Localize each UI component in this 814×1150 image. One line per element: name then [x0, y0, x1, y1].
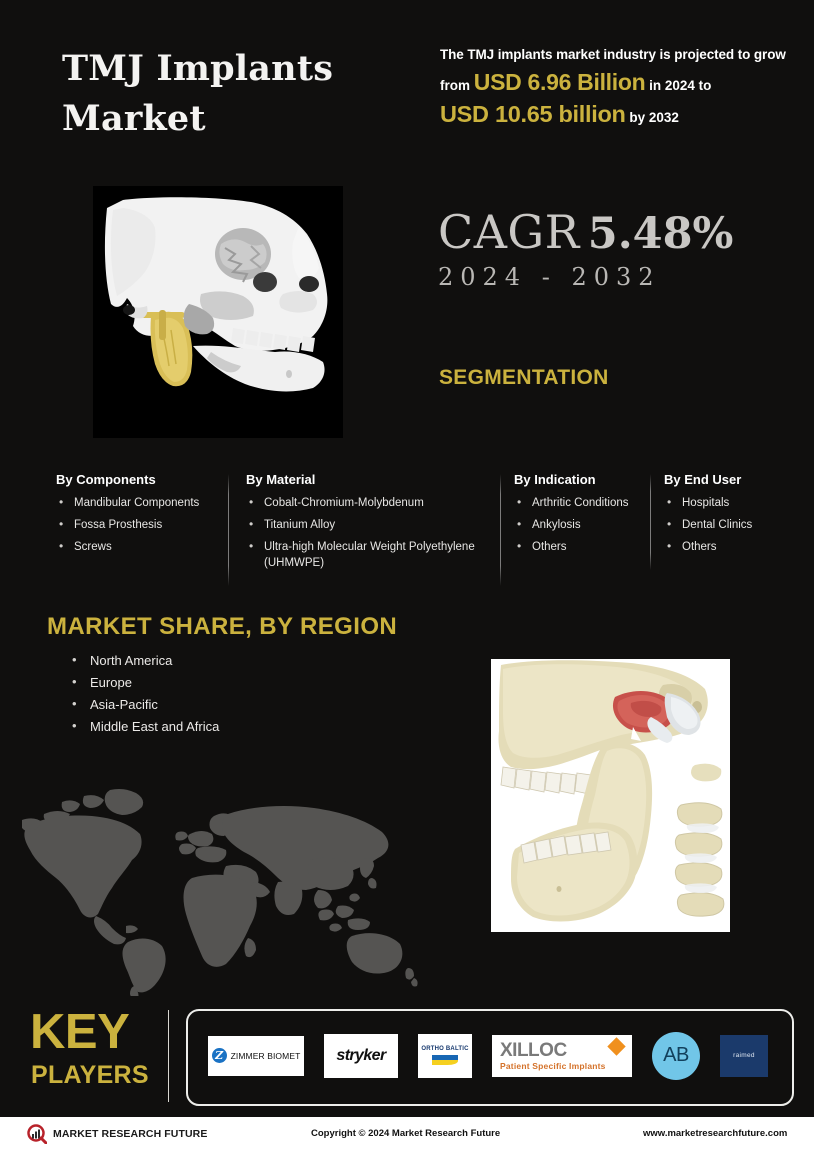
infographic-page: TMJ Implants Market The TMJ implants mar… [0, 0, 814, 1150]
skull-ct-illustration [93, 186, 343, 438]
intro-block: The TMJ implants market industry is proj… [440, 46, 806, 127]
market-share-region-list: North America Europe Asia-Pacific Middle… [68, 653, 219, 741]
list-item: Dental Clinics [664, 518, 804, 533]
footer-brand-logo: MARKET RESEARCH FUTURE [27, 1124, 207, 1144]
footer-brand-text: MARKET RESEARCH FUTURE [53, 1128, 207, 1140]
list-item: Ankylosis [514, 518, 654, 533]
list-item: Asia-Pacific [68, 697, 219, 712]
segment-title: By End User [664, 472, 804, 487]
list-item: Hospitals [664, 496, 804, 511]
logo-text: XILLOC [500, 1041, 567, 1060]
segment-title: By Indication [514, 472, 654, 487]
column-divider [650, 474, 651, 570]
footer-copyright: Copyright © 2024 Market Research Future [311, 1128, 500, 1139]
logo-text: ZIMMER BIOMET [231, 1051, 301, 1061]
world-map-silhouette [22, 786, 442, 996]
list-item: Others [514, 540, 654, 555]
intro-line-1: The TMJ implants market industry is proj… [440, 46, 806, 64]
intro-in-2024-label: in 2024 to [649, 78, 711, 93]
logo-stryker[interactable]: stryker [324, 1034, 398, 1078]
key-players-label-players: PLAYERS [31, 1063, 149, 1088]
list-item: Titanium Alloy [246, 518, 496, 533]
segment-list: Cobalt-Chromium-Molybdenum Titanium Allo… [246, 496, 496, 571]
cagr-block: CAGR5.48% [438, 205, 733, 259]
list-item: Others [664, 540, 804, 555]
segment-column-indication: By Indication Arthritic Conditions Ankyl… [514, 472, 654, 563]
segment-column-material: By Material Cobalt-Chromium-Molybdenum T… [246, 472, 496, 578]
segment-list: Hospitals Dental Clinics Others [664, 496, 804, 556]
logo-raimed[interactable]: raimed [720, 1035, 768, 1077]
column-divider [228, 474, 229, 586]
intro-line-3: USD 10.65 billion by 2032 [440, 103, 806, 127]
list-item: Mandibular Components [56, 496, 216, 511]
logo-text: raimed [733, 1052, 755, 1059]
skull-implant-image [93, 186, 343, 438]
world-map [22, 786, 442, 996]
logo-text: AB [663, 1044, 689, 1067]
footer-url[interactable]: www.marketresearchfuture.com [643, 1128, 787, 1139]
intro-by-2032-label: by 2032 [629, 110, 679, 125]
key-players-divider [168, 1010, 169, 1102]
segmentation-heading: SEGMENTATION [439, 366, 609, 390]
cagr-label: CAGR [438, 205, 580, 259]
segment-title: By Material [246, 472, 496, 487]
cagr-years: 2024 - 2032 [438, 263, 661, 291]
segmentation-columns: By Components Mandibular Components Foss… [0, 472, 814, 597]
cagr-value: 5.48% [588, 209, 734, 259]
footer: MARKET RESEARCH FUTURE Copyright © 2024 … [0, 1117, 814, 1150]
market-value-2024: USD 6.96 Billion [474, 69, 646, 95]
intro-from-label: from [440, 78, 470, 93]
logo-text: stryker [336, 1047, 385, 1065]
zimmer-biomet-mark-icon: Z [212, 1048, 227, 1063]
list-item: Arthritic Conditions [514, 496, 654, 511]
market-share-heading: MARKET SHARE, BY REGION [47, 613, 397, 641]
list-item: Cobalt-Chromium-Molybdenum [246, 496, 496, 511]
jaw-anatomy-image [491, 659, 730, 932]
market-value-2032: USD 10.65 billion [440, 101, 626, 127]
segment-list: Mandibular Components Fossa Prosthesis S… [56, 496, 216, 556]
key-players-label-key: KEY [30, 1008, 129, 1057]
logo-text: ORTHO BALTIC [421, 1046, 468, 1052]
list-item: Screws [56, 540, 216, 555]
logo-xilloc[interactable]: XILLOC Patient Specific Implants [492, 1035, 632, 1077]
list-item: Europe [68, 675, 219, 690]
key-players-logo-strip: Z ZIMMER BIOMET stryker ORTHO BALTIC XIL… [186, 1009, 790, 1102]
logo-ab-dental[interactable]: AB [652, 1032, 700, 1080]
list-item: Ultra-high Molecular Weight Polyethylene… [246, 540, 496, 570]
list-item: Middle East and Africa [68, 719, 219, 734]
ukraine-flag-icon [432, 1055, 458, 1065]
segment-title: By Components [56, 472, 216, 487]
segment-column-end-user: By End User Hospitals Dental Clinics Oth… [664, 472, 804, 563]
segment-column-components: By Components Mandibular Components Foss… [56, 472, 216, 563]
jaw-tmj-illustration [491, 659, 730, 932]
column-divider [500, 474, 501, 586]
page-title: TMJ Implants Market [62, 44, 402, 143]
segment-list: Arthritic Conditions Ankylosis Others [514, 496, 654, 556]
list-item: Fossa Prosthesis [56, 518, 216, 533]
logo-subtext: Patient Specific Implants [500, 1062, 606, 1071]
list-item: North America [68, 653, 219, 668]
market-research-future-logo-icon [27, 1124, 47, 1144]
intro-line-2: from USD 6.96 Billion in 2024 to [440, 71, 806, 94]
logo-ortho-baltic[interactable]: ORTHO BALTIC [418, 1034, 472, 1078]
logo-zimmer-biomet[interactable]: Z ZIMMER BIOMET [208, 1036, 304, 1076]
diamond-icon [607, 1037, 625, 1055]
